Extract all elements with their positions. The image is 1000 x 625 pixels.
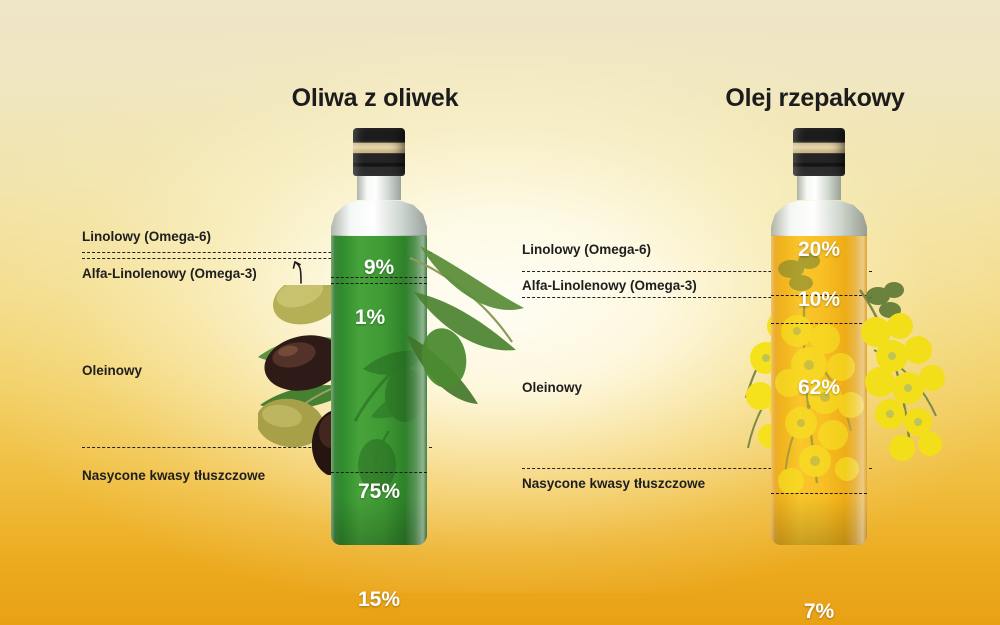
- value-olive-alpha-linolenic: 1%: [331, 306, 427, 330]
- panel-title-olive: Oliwa z oliwek: [275, 84, 475, 113]
- label-rapeseed-linoleic: Linolowy (Omega-6): [522, 242, 651, 257]
- bottle-shoulder-rapeseed: [771, 200, 867, 236]
- bottle-divider-rapeseed-2: [771, 323, 867, 324]
- bottle-rapeseed-oil: 20% 10% 62% 7%: [771, 128, 867, 545]
- label-olive-oleic: Oleinowy: [82, 363, 142, 378]
- value-olive-oleic: 75%: [331, 480, 427, 504]
- bottle-divider-rapeseed-3: [771, 493, 867, 494]
- label-olive-saturated: Nasycone kwasy tłuszczowe: [82, 468, 265, 483]
- bottle-cap-rapeseed: [793, 128, 845, 176]
- label-rapeseed-saturated: Nasycone kwasy tłuszczowe: [522, 476, 705, 491]
- value-olive-saturated: 15%: [331, 588, 427, 612]
- value-rapeseed-alpha-linolenic: 10%: [771, 288, 867, 312]
- rapeseed-flowers-right-decoration: [856, 280, 966, 480]
- bottle-neck-olive: [357, 174, 401, 200]
- label-olive-linoleic: Linolowy (Omega-6): [82, 229, 211, 244]
- bottle-divider-olive-3: [331, 472, 427, 473]
- bottle-neck-rapeseed: [797, 174, 841, 200]
- infographic-stage: Oliwa z oliwek Olej rzepakowy Linolowy (…: [0, 0, 1000, 625]
- bottle-shoulder-olive: [331, 200, 427, 236]
- omega3-arrow-icon: [288, 258, 306, 284]
- panel-title-rapeseed: Olej rzepakowy: [715, 84, 915, 113]
- bottle-cap-olive: [353, 128, 405, 176]
- value-rapeseed-saturated: 7%: [771, 600, 867, 624]
- label-rapeseed-oleic: Oleinowy: [522, 380, 582, 395]
- bottle-olive-oil: 9% 1% 75% 15%: [331, 128, 427, 545]
- label-olive-alpha-linolenic: Alfa-Linolenowy (Omega-3): [82, 266, 257, 281]
- bottle-divider-olive-2: [331, 283, 427, 284]
- value-rapeseed-oleic: 62%: [771, 376, 867, 400]
- label-rapeseed-alpha-linolenic: Alfa-Linolenowy (Omega-3): [522, 278, 697, 293]
- value-olive-linoleic: 9%: [331, 256, 427, 280]
- value-rapeseed-linoleic: 20%: [771, 238, 867, 262]
